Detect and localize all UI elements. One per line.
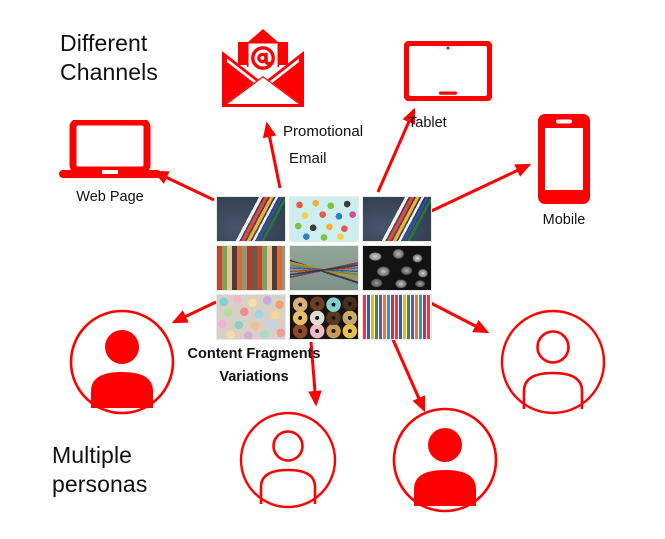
mobile-phone-icon	[536, 112, 592, 206]
diagram-canvas: Different Channels Multiple personas	[0, 0, 665, 539]
person-filled-icon	[68, 308, 176, 416]
email-envelope-icon	[216, 27, 310, 111]
center-label-line-1: Content Fragments	[168, 344, 340, 365]
channel-label-promotional: Promotional	[283, 118, 363, 145]
persona-bottom-right[interactable]	[391, 406, 499, 519]
arrow-to-email	[267, 124, 280, 188]
person-outline-icon	[238, 410, 338, 510]
page-title-different-channels: Different Channels	[60, 29, 240, 87]
page-title-multiple-personas: Multiple personas	[52, 441, 242, 499]
person-filled-icon	[391, 406, 499, 514]
channel-label-email: Email	[289, 145, 327, 172]
grid-thumbnail[interactable]	[289, 245, 359, 291]
person-outline-icon	[499, 308, 607, 416]
arrow-to-mobile	[425, 165, 529, 214]
grid-thumbnail[interactable]	[362, 245, 432, 291]
channel-mobile[interactable]	[536, 112, 592, 211]
laptop-icon	[57, 120, 163, 182]
arrow-to-persona-left	[174, 302, 216, 322]
grid-thumbnail[interactable]	[216, 294, 286, 340]
content-fragments-grid[interactable]	[216, 196, 432, 340]
channel-web-page[interactable]	[57, 120, 163, 187]
arrow-to-web-page	[155, 172, 214, 200]
grid-thumbnail[interactable]	[216, 245, 286, 291]
channel-label-tablet: Tablet	[408, 114, 488, 132]
channel-tablet[interactable]	[404, 41, 492, 106]
grid-thumbnail[interactable]	[216, 196, 286, 242]
grid-thumbnail[interactable]	[289, 294, 359, 340]
persona-right[interactable]	[499, 308, 607, 421]
channel-label-web-page: Web Page	[62, 188, 158, 206]
grid-thumbnail[interactable]	[362, 294, 432, 340]
channel-promotional-email[interactable]	[216, 27, 310, 116]
tablet-icon	[404, 41, 492, 101]
grid-thumbnail[interactable]	[362, 196, 432, 242]
persona-bottom-left[interactable]	[238, 410, 338, 515]
channel-label-mobile: Mobile	[519, 211, 609, 229]
grid-thumbnail[interactable]	[289, 196, 359, 242]
center-label-line-2: Variations	[168, 367, 340, 388]
persona-left[interactable]	[68, 308, 176, 421]
arrow-to-persona-right	[425, 300, 487, 332]
